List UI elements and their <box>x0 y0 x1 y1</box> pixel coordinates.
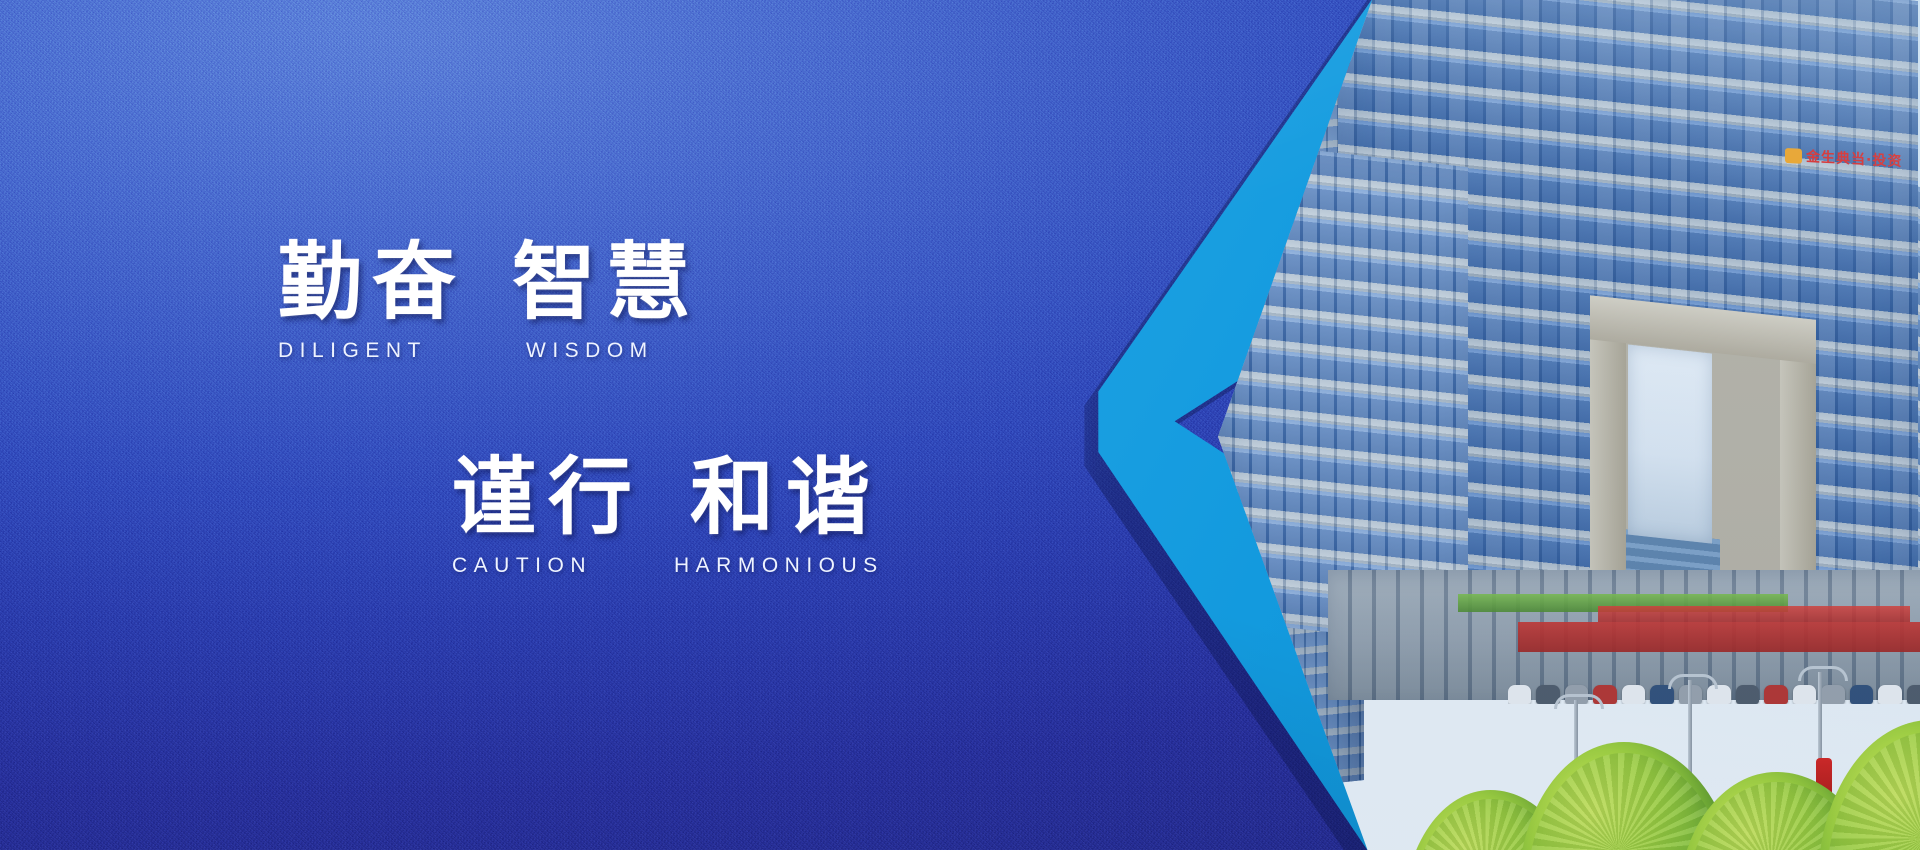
slogan-english-word-diligent: DILIGENT <box>278 340 526 361</box>
slogan-english-line-2: CAUTION HARMONIOUS <box>452 555 884 576</box>
photo-tree <box>1818 720 1920 850</box>
photo-foreground-trees <box>1398 650 1920 850</box>
slogan-chinese-line-1: 勤奋 智慧 <box>278 240 700 324</box>
slogan-english-word-wisdom: WISDOM <box>526 340 654 361</box>
pawnshop-logo-icon <box>1785 147 1802 163</box>
chevron-photo-composition: 金生典当·投资 江苏国泰 <box>1090 0 1920 850</box>
slogan-group: 勤奋 智慧 DILIGENT WISDOM 谨行 和谐 CAUTION HARM… <box>0 0 1000 850</box>
photo-shop-signage <box>1518 622 1920 652</box>
photo-building-gate-opening <box>1628 345 1712 544</box>
slogan-chinese-line-2: 谨行 和谐 <box>452 455 884 539</box>
slogan-english-word-harmonious: HARMONIOUS <box>674 555 884 576</box>
slogan-chinese-word-harmonious: 和谐 <box>690 455 882 539</box>
slogan-english-word-caution: CAUTION <box>452 555 674 576</box>
slogan-chinese-word-diligent: 勤奋 <box>278 240 466 324</box>
slogan-row-2: 谨行 和谐 CAUTION HARMONIOUS <box>452 455 884 576</box>
corporate-values-banner: 勤奋 智慧 DILIGENT WISDOM 谨行 和谐 CAUTION HARM… <box>0 0 1920 850</box>
slogan-row-1: 勤奋 智慧 DILIGENT WISDOM <box>278 240 700 361</box>
slogan-chinese-word-wisdom: 智慧 <box>512 240 700 324</box>
slogan-chinese-word-caution: 谨行 <box>452 455 644 539</box>
slogan-english-line-1: DILIGENT WISDOM <box>278 340 700 361</box>
photo-shop-signage-upper <box>1598 606 1910 622</box>
